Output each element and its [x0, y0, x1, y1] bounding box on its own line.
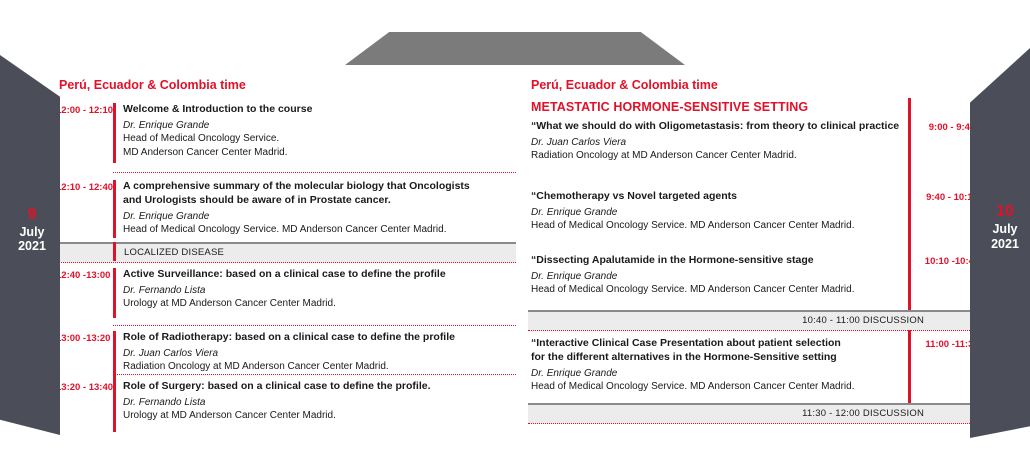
date-day-right: 10 [980, 203, 1030, 222]
session-body: “Chemotherapy vs Novel targeted agents D… [531, 190, 903, 233]
session-body: Active Surveillance: based on a clinical… [123, 268, 516, 311]
date-month-right: July [980, 222, 1030, 237]
session-row[interactable]: 13:20 - 13:40 Role of Surgery: based on … [56, 380, 516, 432]
session-row[interactable]: 12:00 - 12:10 Welcome & Introduction to … [56, 103, 516, 163]
date-month-left: July [4, 224, 60, 239]
session-time: 13:20 - 13:40 [56, 382, 108, 393]
session-speaker: Dr. Fernando Lista [123, 284, 516, 297]
session-body: “Dissecting Apalutamide in the Hormone-s… [531, 254, 903, 297]
session-row[interactable]: 11:00 -11:30 “Interactive Clinical Case … [528, 337, 988, 395]
session-affiliation: Urology at MD Anderson Cancer Center Mad… [123, 409, 516, 422]
session-body: A comprehensive summary of the molecular… [123, 180, 516, 237]
date-year-right: 2021 [980, 237, 1030, 252]
session-time: 12:10 - 12:40 [56, 182, 108, 193]
session-body: “Interactive Clinical Case Presentation … [531, 337, 903, 394]
session-title: Welcome & Introduction to the course [123, 103, 516, 117]
session-row[interactable]: 12:40 -13:00 Active Surveillance: based … [56, 268, 516, 318]
session-title: “Dissecting Apalutamide in the Hormone-s… [531, 254, 903, 268]
time-rail [113, 268, 116, 318]
row-separator [113, 374, 516, 375]
session-affiliation: Radiation Oncology at MD Anderson Cancer… [123, 360, 516, 373]
session-title: Active Surveillance: based on a clinical… [123, 268, 516, 282]
time-rail [908, 98, 911, 310]
session-speaker: Dr. Fernando Lista [123, 396, 516, 409]
date-panel-left-inner: 9 July 2021 [4, 206, 60, 254]
session-speaker: Dr. Juan Carlos Viera [123, 347, 516, 360]
session-time: 12:00 - 12:10 [56, 105, 108, 116]
session-title: for the different alternatives in the Ho… [531, 351, 903, 365]
session-affiliation: Head of Medical Oncology Service. MD And… [531, 380, 903, 393]
session-affiliation: MD Anderson Cancer Center Madrid. [123, 146, 516, 159]
session-body: “What we should do with Oligometastasis:… [531, 120, 903, 163]
time-rail [113, 180, 116, 238]
session-row[interactable]: 10:10 -10:40 “Dissecting Apalutamide in … [528, 254, 988, 299]
time-rail [113, 103, 116, 163]
date-day-left: 9 [4, 206, 60, 225]
session-speaker: Dr. Juan Carlos Viera [531, 136, 903, 149]
session-speaker: Dr. Enrique Grande [531, 367, 903, 380]
discussion-band: 10:40 - 11:00 DISCUSSION [528, 310, 988, 331]
session-time: 13:00 -13:20 [56, 333, 108, 344]
left-column-timezone-heading: Perú, Ecuador & Colombia time [59, 78, 246, 92]
session-row[interactable]: 9:40 - 10:10 “Chemotherapy vs Novel targ… [528, 190, 988, 235]
session-body: Role of Surgery: based on a clinical cas… [123, 380, 516, 423]
right-column-timezone-heading: Perú, Ecuador & Colombia time [531, 78, 718, 92]
session-affiliation: Head of Medical Oncology Service. MD And… [531, 219, 903, 232]
time-rail [113, 242, 116, 261]
status-banner [345, 32, 685, 65]
row-separator [113, 172, 516, 173]
session-row[interactable]: 12:10 - 12:40 A comprehensive summary of… [56, 180, 516, 238]
session-affiliation: Urology at MD Anderson Cancer Center Mad… [123, 297, 516, 310]
date-panel-day-10: 10 July 2021 [970, 48, 1030, 438]
session-title: Role of Surgery: based on a clinical cas… [123, 380, 516, 394]
band-rail-wrap [56, 242, 516, 261]
session-title: “What we should do with Oligometastasis:… [531, 120, 903, 134]
session-body: Welcome & Introduction to the course Dr.… [123, 103, 516, 159]
session-body: Role of Radiotherapy: based on a clinica… [123, 331, 516, 374]
date-panel-right-inner: 10 July 2021 [980, 203, 1030, 251]
session-affiliation: Radiation Oncology at MD Anderson Cancer… [531, 149, 903, 162]
session-affiliation: Head of Medical Oncology Service. [123, 132, 516, 145]
row-separator [113, 325, 516, 326]
session-title: “Interactive Clinical Case Presentation … [531, 337, 903, 351]
session-title: A comprehensive summary of the molecular… [123, 180, 516, 194]
time-rail [113, 380, 116, 432]
session-row[interactable]: 9:00 - 9:40 “What we should do with Olig… [528, 120, 988, 165]
session-speaker: Dr. Enrique Grande [123, 119, 516, 132]
session-title: and Urologists should be aware of in Pro… [123, 194, 516, 208]
discussion-band: 11:30 - 12:00 DISCUSSION [528, 403, 988, 424]
session-time: 12:40 -13:00 [56, 270, 108, 281]
date-panel-day-9: 9 July 2021 [0, 55, 60, 435]
session-affiliation: Head of Medical Oncology Service. MD And… [531, 283, 903, 296]
session-speaker: Dr. Enrique Grande [531, 206, 903, 219]
session-title: Role of Radiotherapy: based on a clinica… [123, 331, 516, 345]
session-title: “Chemotherapy vs Novel targeted agents [531, 190, 903, 204]
session-affiliation: Head of Medical Oncology Service. MD And… [123, 223, 516, 236]
right-column-section-title: METASTATIC HORMONE-SENSITIVE SETTING [531, 100, 808, 114]
discussion-band-label: 10:40 - 11:00 DISCUSSION [802, 315, 924, 326]
time-rail [908, 330, 911, 403]
discussion-band-label: 11:30 - 12:00 DISCUSSION [802, 408, 924, 419]
session-speaker: Dr. Enrique Grande [531, 270, 903, 283]
date-year-left: 2021 [4, 239, 60, 254]
session-speaker: Dr. Enrique Grande [123, 210, 516, 223]
